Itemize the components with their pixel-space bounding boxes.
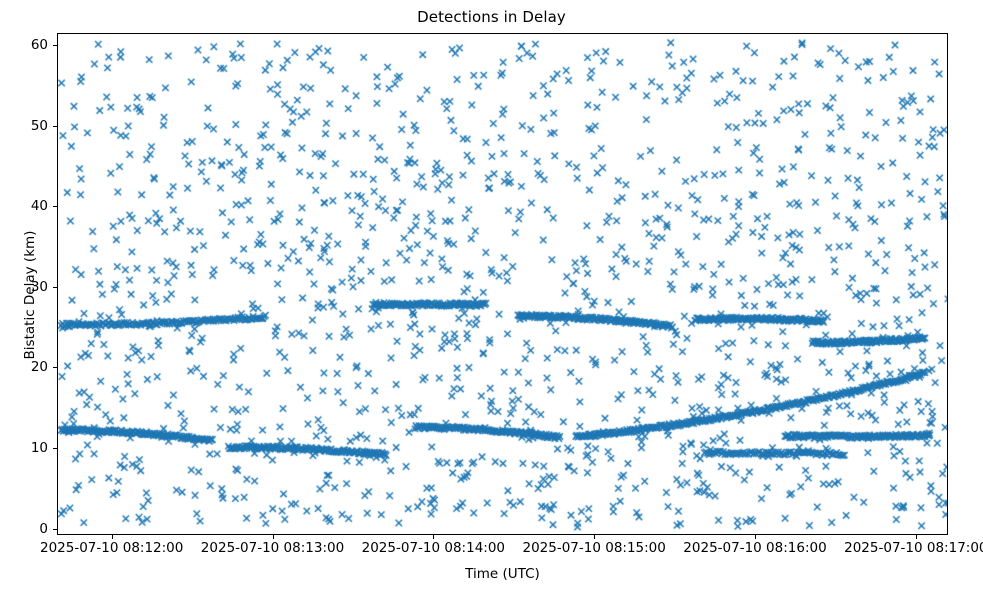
x-tick-mark [273, 535, 274, 539]
x-tick-label: 2025-07-10 08:14:00 [362, 540, 505, 556]
x-tick-mark [594, 535, 595, 539]
x-tick-label: 2025-07-10 08:17:00 [844, 540, 983, 556]
x-axis-label: Time (UTC) [57, 566, 948, 582]
x-tick-label: 2025-07-10 08:16:00 [683, 540, 826, 556]
page-title: Detections in Delay [0, 8, 983, 26]
x-tick-label: 2025-07-10 08:15:00 [522, 540, 665, 556]
x-tick-mark [433, 535, 434, 539]
x-tick-label: 2025-07-10 08:12:00 [40, 540, 183, 556]
plot-area[interactable] [57, 33, 948, 535]
x-tick-label: 2025-07-10 08:13:00 [201, 540, 344, 556]
y-axis-label: Bistatic Delay (km) [22, 0, 44, 590]
scatter-series-detections [58, 34, 948, 535]
x-tick-mark [112, 535, 113, 539]
matplotlib-figure: Detections in Delay 0102030405060 2025-0… [0, 0, 983, 590]
x-tick-mark [755, 535, 756, 539]
x-tick-mark [916, 535, 917, 539]
